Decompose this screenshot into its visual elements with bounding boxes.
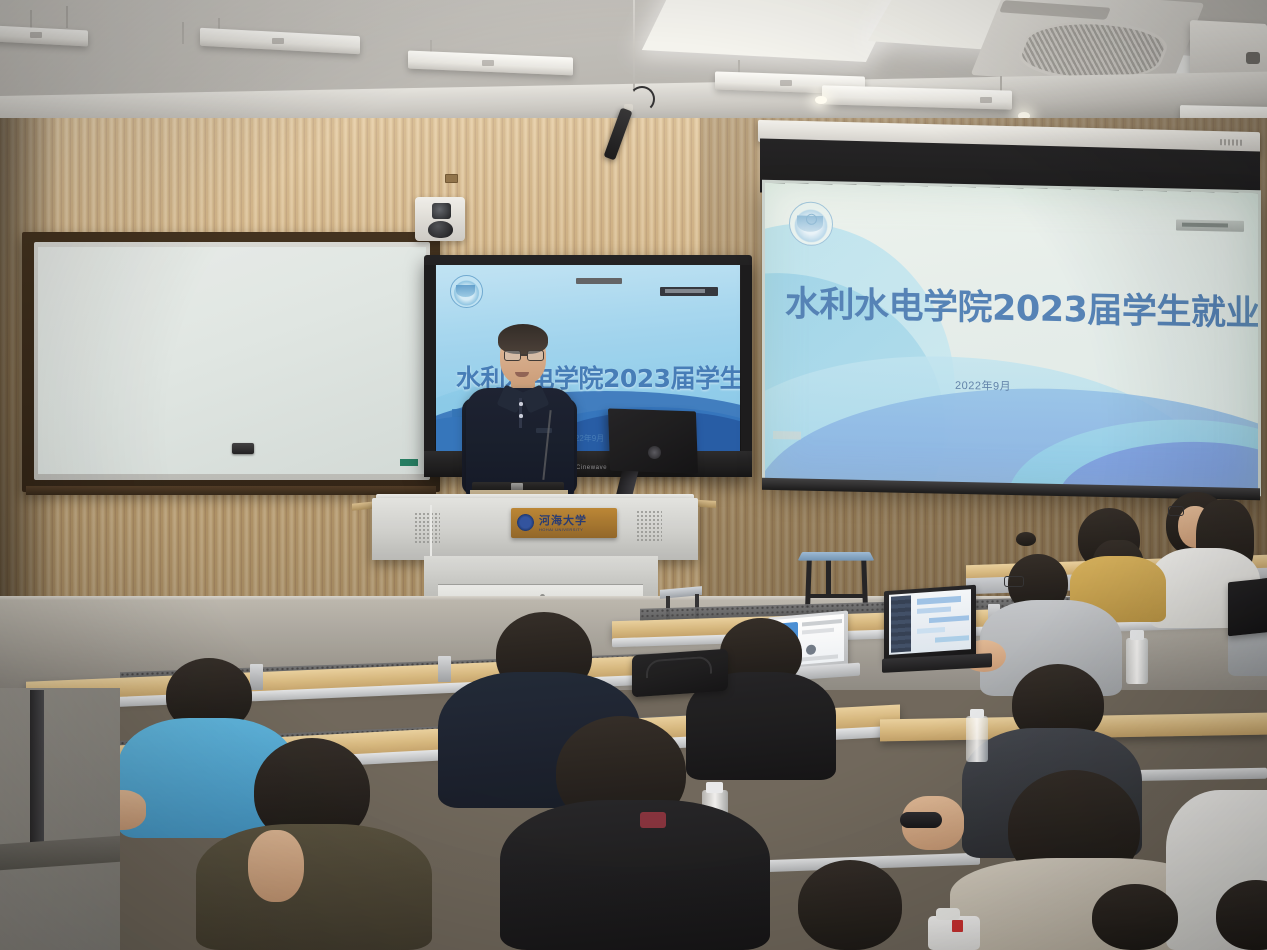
led-brand-label: Cinewave (576, 465, 607, 471)
laptop-ui-bar (929, 615, 969, 623)
lecture-hall-photo: 水利水电学院2023届学生就业动员会 2022年9月 Cinewave (0, 0, 1267, 950)
projection-screen[interactable]: 水利水电学院2023届学生就业动员会 2022年9月 (765, 183, 1258, 493)
wall-outlet-icon (445, 174, 458, 183)
laptop-ui-bar (802, 619, 842, 626)
wristwatch-icon (900, 812, 942, 828)
led-overlay-badge[interactable] (660, 287, 718, 296)
laptop-sidebar (891, 595, 911, 652)
cup-label-icon (952, 920, 963, 932)
monitor-hinge (648, 446, 661, 459)
led-side-controls[interactable] (741, 265, 752, 451)
eyeglasses-icon (1168, 506, 1184, 516)
podium-plaque-subtext: HOHAI UNIVERSITY (539, 527, 583, 532)
lamp-label (780, 80, 792, 86)
bottle-cap (970, 709, 984, 718)
eyeglasses-icon (527, 350, 544, 361)
student-hand (248, 830, 304, 902)
student-olive-front (196, 824, 432, 950)
hohai-logo-icon (517, 514, 534, 531)
laptop-dark-right[interactable] (1228, 578, 1267, 637)
laptop-ui-bar (917, 607, 951, 614)
bottle-cap (1130, 630, 1144, 640)
bottle-cap (706, 782, 723, 793)
avatar-icon (806, 644, 816, 655)
lamp-label (30, 32, 42, 38)
laptop-ui-bar (917, 627, 945, 634)
downlight (815, 96, 827, 104)
podium-speaker-grille (636, 510, 662, 542)
aisle-floor (0, 688, 120, 950)
cup-lid (936, 908, 960, 920)
screen-control-icon[interactable] (1220, 139, 1242, 146)
eyeglasses-icon (504, 350, 521, 361)
seal-wave-icon (456, 285, 475, 297)
laptop-black[interactable] (884, 585, 976, 663)
lamp-label (272, 38, 284, 44)
student-black-front (500, 800, 770, 950)
camera-dome-icon (428, 221, 453, 238)
led-side-controls[interactable] (424, 265, 435, 451)
blue-top-stool[interactable] (798, 552, 875, 561)
eyeglasses-icon (1004, 576, 1024, 587)
laptop-ui-bar (802, 628, 834, 635)
eyeglasses-bridge (521, 354, 527, 356)
student-head (798, 860, 902, 950)
lamp-rod (182, 22, 184, 44)
lamp-rod (66, 6, 68, 28)
desk-bracket (250, 664, 263, 690)
lamp-label (482, 60, 494, 66)
podium-speaker-grille (414, 512, 440, 544)
water-bottle[interactable] (1126, 638, 1148, 684)
podium-plaque-text: 河海大学 (539, 512, 587, 528)
desk-support-post (30, 690, 44, 860)
laptop-ui-bar (935, 635, 969, 642)
lamp-label (980, 97, 992, 103)
camera-lens-icon (432, 203, 451, 219)
whiteboard-surface[interactable] (38, 247, 426, 474)
projector-lens-icon (1246, 52, 1260, 64)
podium-nameplate: 河海大学 HOHAI UNIVERSITY (511, 508, 617, 538)
student-head (1092, 884, 1178, 950)
laptop-ui-bar (917, 596, 961, 605)
whiteboard[interactable] (22, 232, 440, 492)
podium-monitor[interactable] (608, 408, 698, 473)
led-status-bar (576, 278, 622, 284)
student-head (1016, 532, 1036, 546)
shirt-logo-icon (640, 812, 666, 828)
water-bottle[interactable] (966, 716, 988, 762)
whiteboard-tray (26, 486, 436, 495)
shirt-button (519, 414, 523, 418)
laptop-screen[interactable] (889, 589, 971, 655)
desk-bracket (438, 656, 451, 682)
whiteboard-tag (400, 459, 418, 466)
whiteboard-eraser[interactable] (232, 443, 254, 454)
shirt-button (519, 402, 523, 406)
microphone-suspension-wire (633, 0, 635, 92)
screen-glow (765, 183, 1258, 493)
stool-rail (806, 594, 864, 598)
